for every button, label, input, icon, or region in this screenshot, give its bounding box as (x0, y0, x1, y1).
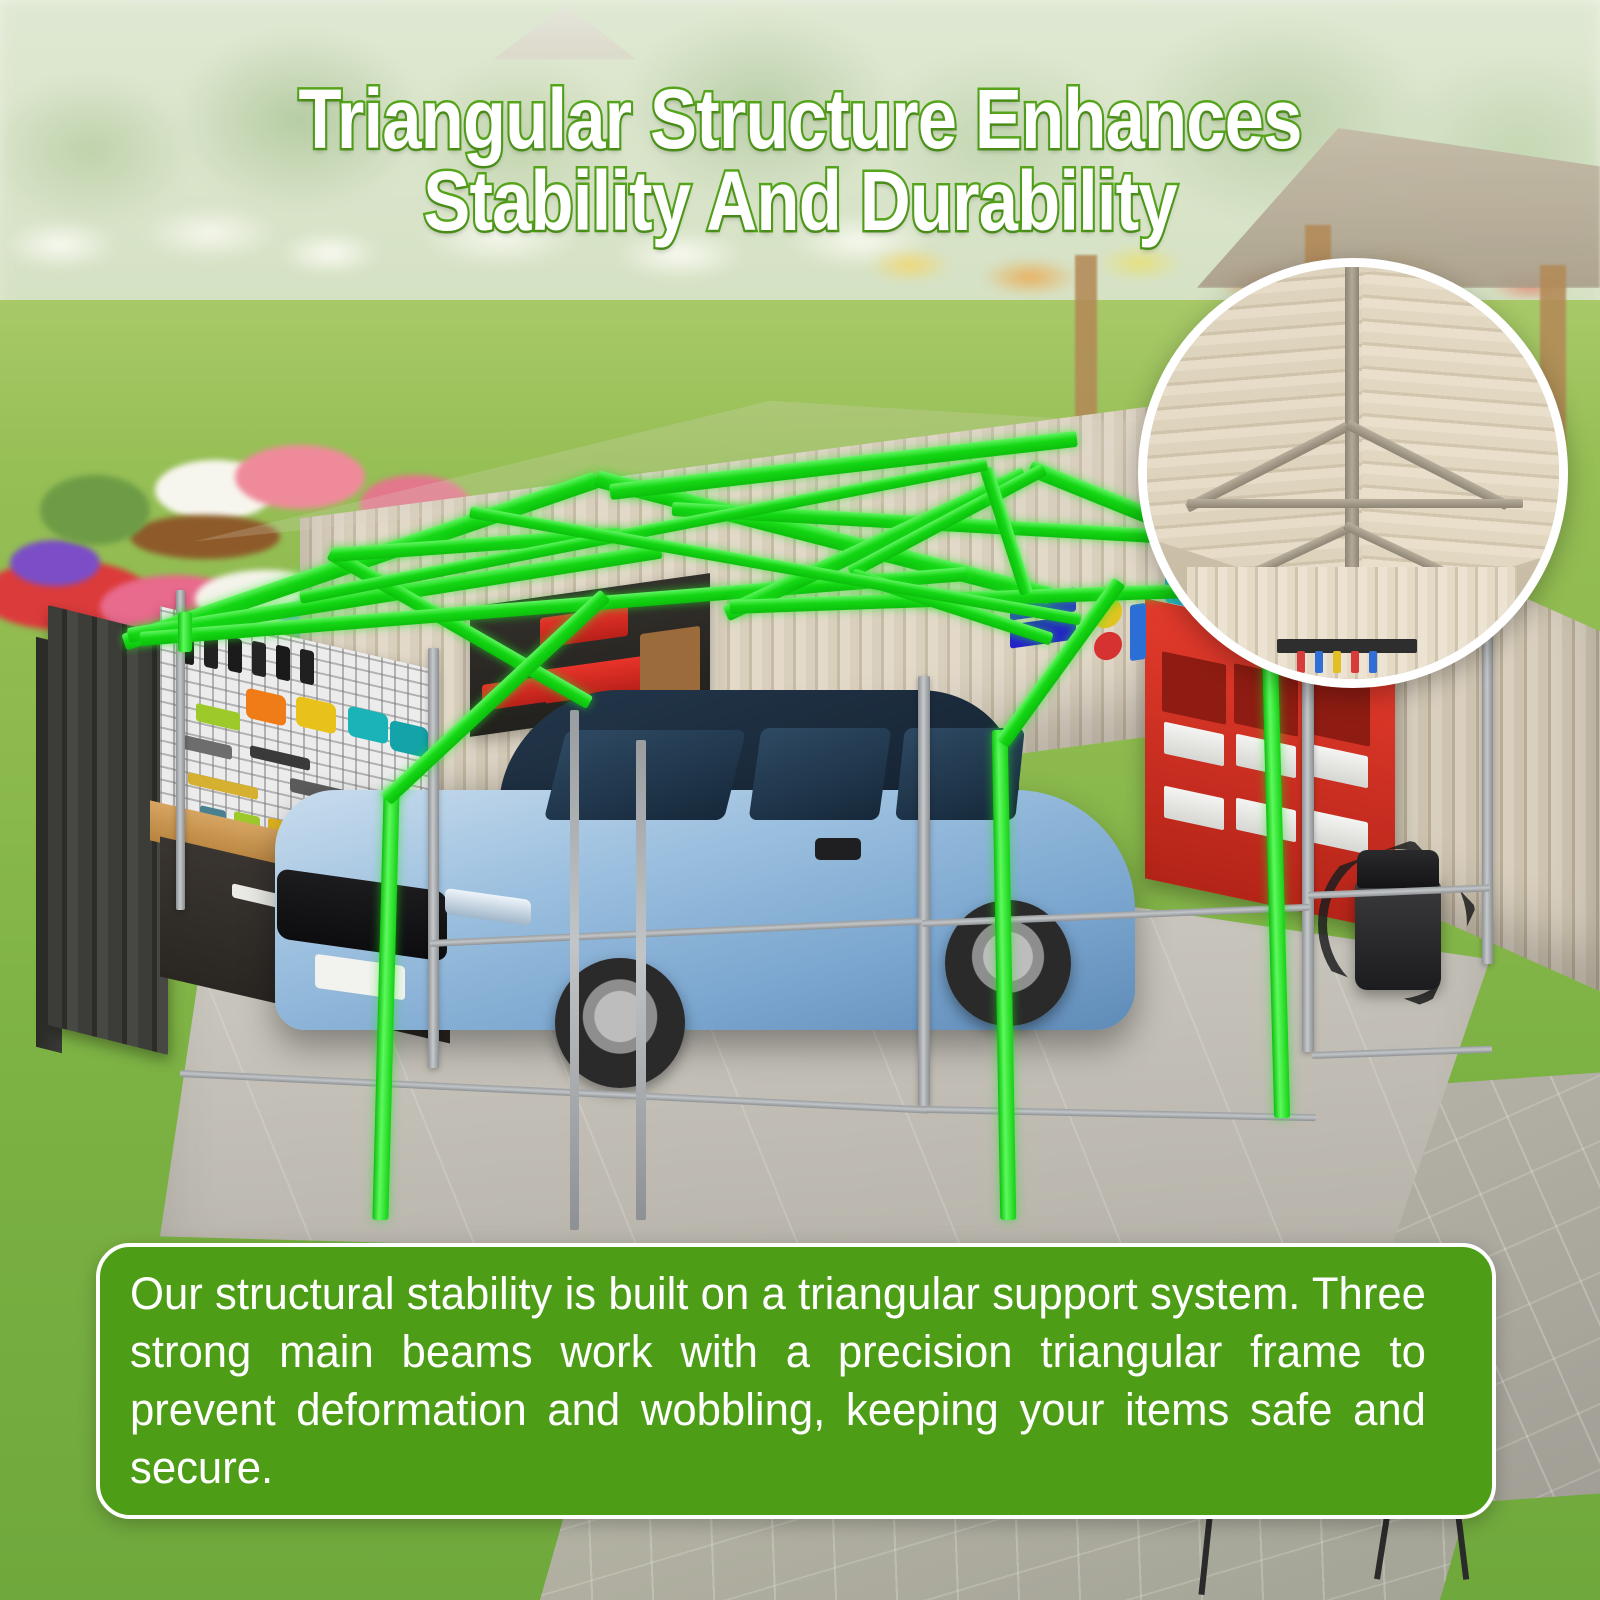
inset-tool (1333, 651, 1341, 673)
shop-vacuum-head (1357, 850, 1439, 888)
inset-tool (1369, 651, 1377, 673)
inset-tool (1315, 651, 1323, 673)
side-mirror (815, 838, 861, 860)
detail-inset-circle (1138, 258, 1568, 688)
front-side-window (749, 728, 892, 820)
frame-post (570, 710, 579, 1230)
description-text: Our structural stability is built on a t… (130, 1265, 1426, 1555)
inset-tool (1351, 651, 1359, 673)
hand-tool (228, 636, 242, 673)
inset-tool (1297, 651, 1305, 673)
frame-post (918, 676, 930, 1106)
highlight-post-far-left (178, 612, 192, 652)
hand-tool (1130, 603, 1146, 661)
shop-vacuum-body (1355, 880, 1441, 990)
frame-post (1302, 632, 1314, 1052)
marketing-image: Triangular Structure Enhances Stability … (0, 0, 1600, 1600)
frame-post (636, 740, 646, 1220)
frame-post (428, 648, 439, 1068)
description-panel: Our structural stability is built on a t… (96, 1243, 1496, 1519)
inset-truss-upper-chord (1187, 499, 1523, 508)
